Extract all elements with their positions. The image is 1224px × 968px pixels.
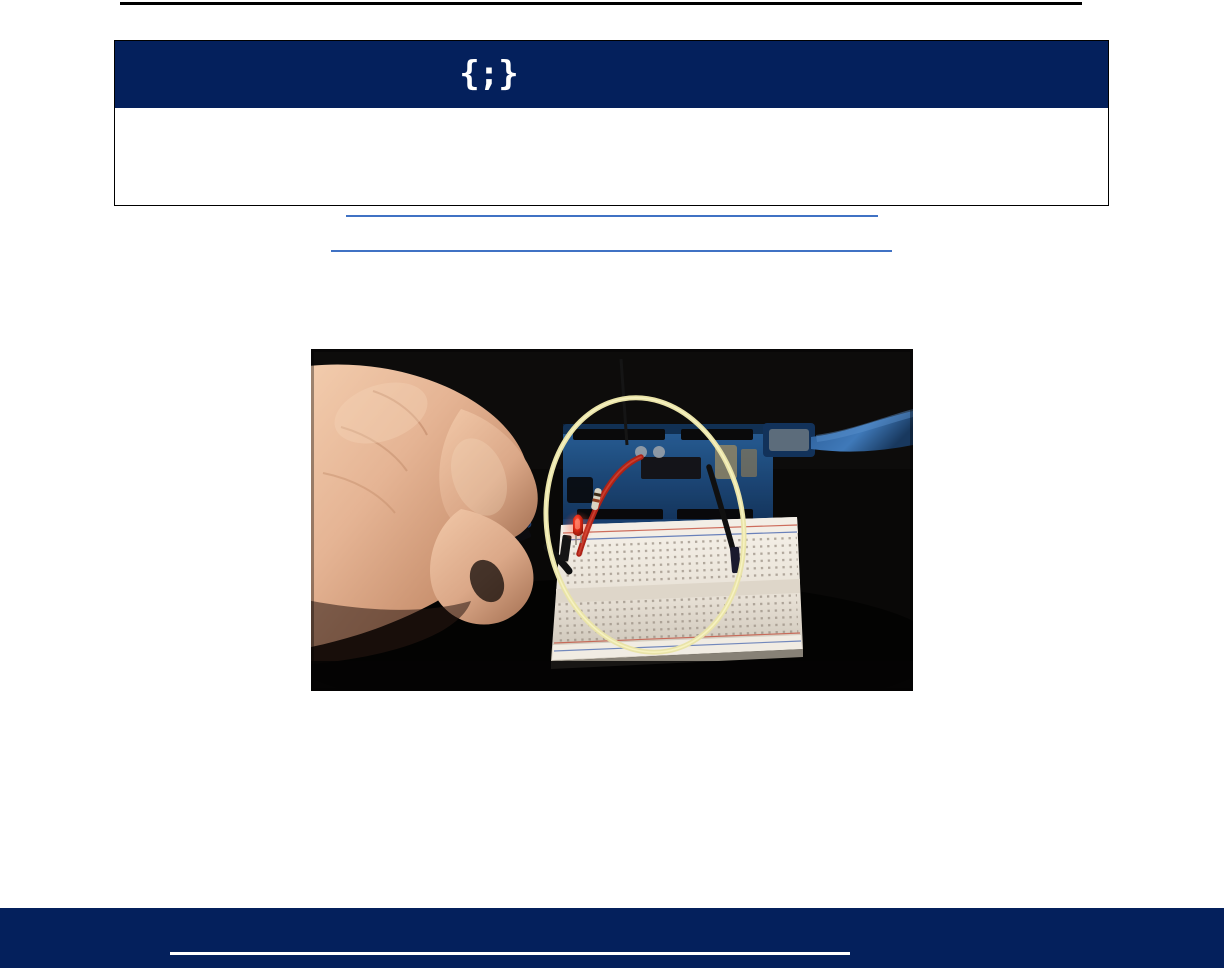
footer-bar <box>0 908 1224 968</box>
header-card: {;} <box>114 40 1109 206</box>
header-body <box>115 108 1108 205</box>
top-horizontal-rule <box>120 2 1082 5</box>
article-figure <box>311 349 913 691</box>
main-content <box>114 206 1109 896</box>
arduino-proximity-sensor-photo <box>311 349 913 691</box>
code-braces-semicolon-logo[interactable]: {;} <box>459 57 517 91</box>
footer-link[interactable] <box>170 940 850 955</box>
header-navy-bar: {;} <box>115 41 1108 108</box>
